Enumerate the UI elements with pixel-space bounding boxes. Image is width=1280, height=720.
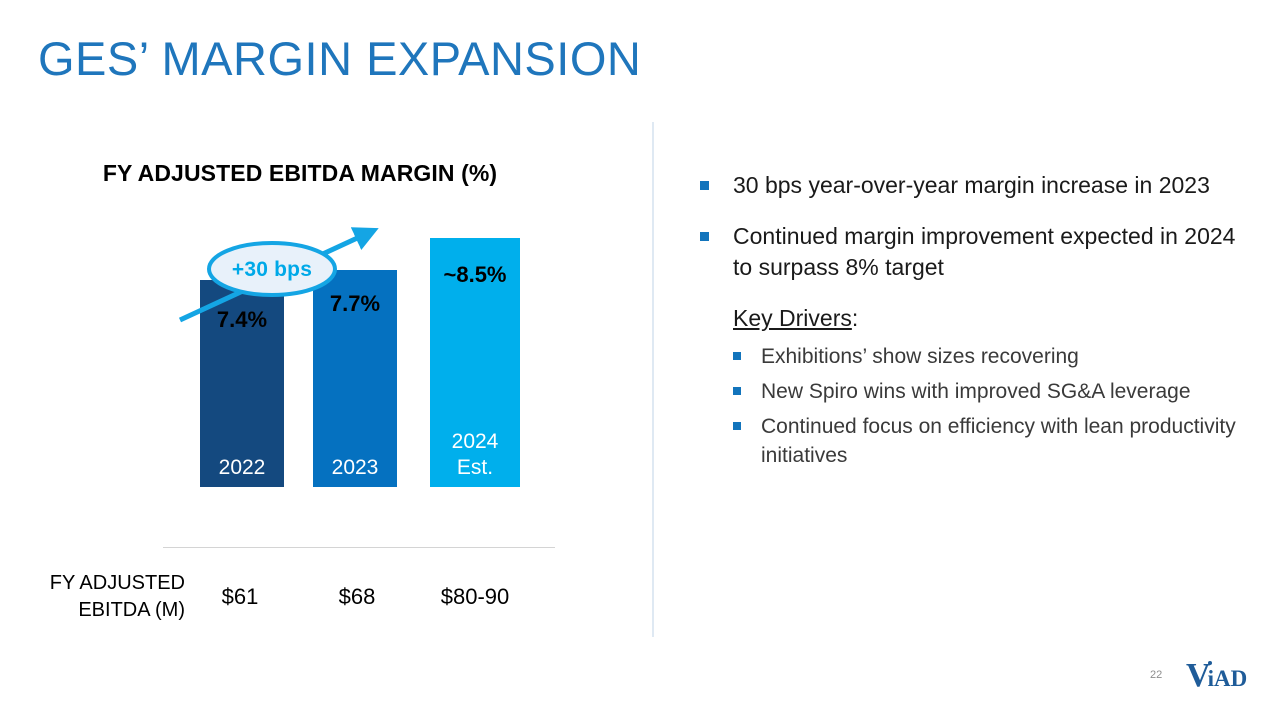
sub-bullet-text: Exhibitions’ show sizes recovering — [761, 342, 1245, 371]
square-bullet-icon — [700, 232, 709, 241]
key-drivers-heading-text: Key Drivers — [733, 305, 852, 331]
square-bullet-icon — [700, 181, 709, 190]
footer-row-label-line2: EBITDA (M) — [20, 597, 185, 624]
bullet-item: 30 bps year-over-year margin increase in… — [700, 170, 1245, 201]
bar-category-label-2023: 2023 — [313, 455, 397, 481]
page-number: 22 — [1150, 669, 1162, 681]
footer-row-label: FY ADJUSTED EBITDA (M) — [20, 570, 185, 624]
square-bullet-icon — [733, 352, 741, 360]
bullet-item: Continued margin improvement expected in… — [700, 221, 1245, 283]
sub-bullet-item: Continued focus on efficiency with lean … — [733, 412, 1245, 470]
sub-bullet-item: Exhibitions’ show sizes recovering — [733, 342, 1245, 371]
bar-chart-plot-area: 2022 7.4% 2023 7.7% 2024 Est. ~8.5% — [0, 0, 652, 660]
viad-logo-dot-icon — [1208, 661, 1212, 665]
bar-category-label-2024: 2024 Est. — [430, 429, 520, 481]
footer-value-2023: $68 — [315, 584, 399, 610]
key-drivers-heading-colon: : — [852, 305, 858, 331]
bar-value-label-2022: 7.4% — [200, 307, 284, 333]
square-bullet-icon — [733, 387, 741, 395]
sub-bullet-item: New Spiro wins with improved SG&A levera… — [733, 377, 1245, 406]
content-panel: 30 bps year-over-year margin increase in… — [700, 170, 1245, 476]
footer-value-2024: $80-90 — [428, 584, 522, 610]
chart-panel: FY ADJUSTED EBITDA MARGIN (%) 2022 7.4% … — [0, 0, 652, 720]
viad-logo-rest: iAD — [1208, 666, 1248, 691]
bar-value-label-2023: 7.7% — [313, 291, 397, 317]
footer-row-label-line1: FY ADJUSTED — [20, 570, 185, 597]
footer-value-2022: $61 — [198, 584, 282, 610]
bar-value-label-2024: ~8.5% — [428, 262, 522, 288]
panel-divider — [652, 122, 654, 637]
key-drivers-heading: Key Drivers: — [700, 303, 1245, 334]
square-bullet-icon — [733, 422, 741, 430]
chart-baseline-axis — [163, 547, 555, 548]
bar-category-label-2024-line1: 2024 — [430, 429, 520, 455]
bar-category-label-2024-line2: Est. — [430, 455, 520, 481]
bullet-text: Continued margin improvement expected in… — [733, 221, 1245, 283]
sub-bullet-text: New Spiro wins with improved SG&A levera… — [761, 377, 1245, 406]
bullet-text: 30 bps year-over-year margin increase in… — [733, 170, 1245, 201]
sub-bullet-text: Continued focus on efficiency with lean … — [761, 412, 1245, 470]
bar-category-label-2022: 2022 — [200, 455, 284, 481]
viad-logo-lead: V — [1186, 657, 1210, 694]
callout-label: +30 bps — [217, 258, 327, 282]
viad-logo: ViAD — [1186, 659, 1249, 696]
